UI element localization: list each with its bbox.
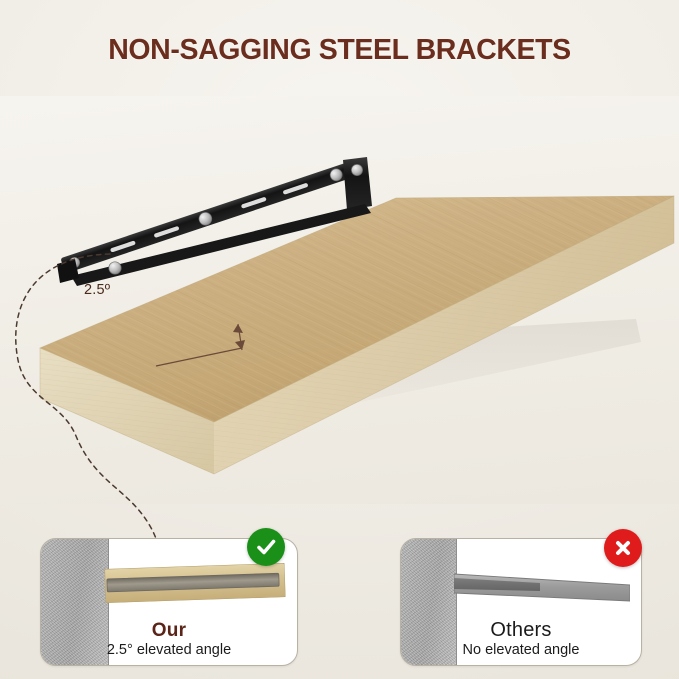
our-caption: Our 2.5° elevated angle (41, 621, 297, 659)
others-subtitle: No elevated angle (401, 643, 641, 659)
cross-icon (604, 529, 642, 567)
others-caption: Others No elevated angle (401, 620, 641, 659)
our-shelf-diagram (105, 563, 280, 598)
our-subtitle: 2.5° elevated angle (41, 643, 297, 659)
others-shelf-diagram (454, 571, 629, 594)
check-icon (247, 528, 285, 566)
product-infographic: NON-SAGGING STEEL BRACKETS (0, 0, 679, 679)
others-title: Others (401, 620, 641, 642)
callout-connector (0, 240, 200, 560)
comparison-section: Our 2.5° elevated angle (0, 528, 679, 673)
page-title: NON-SAGGING STEEL BRACKETS (0, 34, 679, 67)
our-title: Our (41, 621, 297, 642)
